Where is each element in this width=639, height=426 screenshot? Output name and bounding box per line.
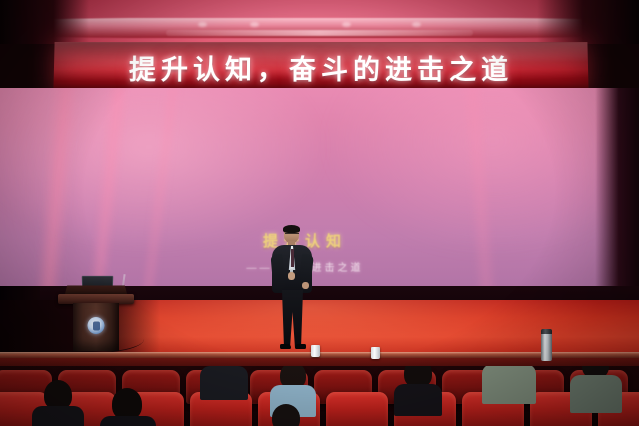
- presenter-hand-right: [302, 282, 309, 289]
- cup-icon: [311, 345, 320, 357]
- ceiling-light-bar: [166, 30, 473, 36]
- audience-body: [200, 366, 248, 400]
- cup-icon: [371, 347, 380, 359]
- ceiling-shadow-right: [537, 0, 639, 44]
- glasses-icon: [285, 233, 299, 237]
- presenter-shoe-left: [280, 344, 291, 349]
- ceiling-spot-icon: [198, 22, 207, 27]
- stage-banner: 提升认知，奋斗的进击之道: [53, 42, 588, 92]
- ceiling-spot-icon: [342, 22, 351, 27]
- banner-title: 提升认知，奋斗的进击之道: [129, 48, 514, 87]
- audience-body: [100, 416, 156, 426]
- ceiling-shadow-left: [0, 0, 89, 44]
- ceiling-spot-icon: [250, 22, 259, 27]
- seat: [326, 392, 388, 426]
- bottle-cap: [541, 329, 552, 334]
- presenter-tie: [291, 249, 294, 267]
- ceiling-proscenium: [0, 0, 639, 44]
- bottle-icon: [541, 332, 552, 361]
- audience-head: [272, 404, 300, 426]
- audience-body: [482, 366, 536, 404]
- presenter-hand-left: [288, 272, 295, 280]
- audience-body: [570, 375, 622, 413]
- audience-body: [394, 384, 442, 416]
- presenter: [272, 226, 312, 350]
- presenter-legs: [280, 290, 305, 348]
- presenter-shoe-right: [295, 344, 306, 349]
- auditorium-scene: 提升认知，奋斗的进击之道 提升认知 ——奋斗的进击之道 关于梦想 中国梦、是中华…: [0, 0, 639, 426]
- audience-body: [32, 406, 84, 426]
- audience-seating: [0, 366, 639, 426]
- ceiling-spot-icon: [412, 22, 421, 27]
